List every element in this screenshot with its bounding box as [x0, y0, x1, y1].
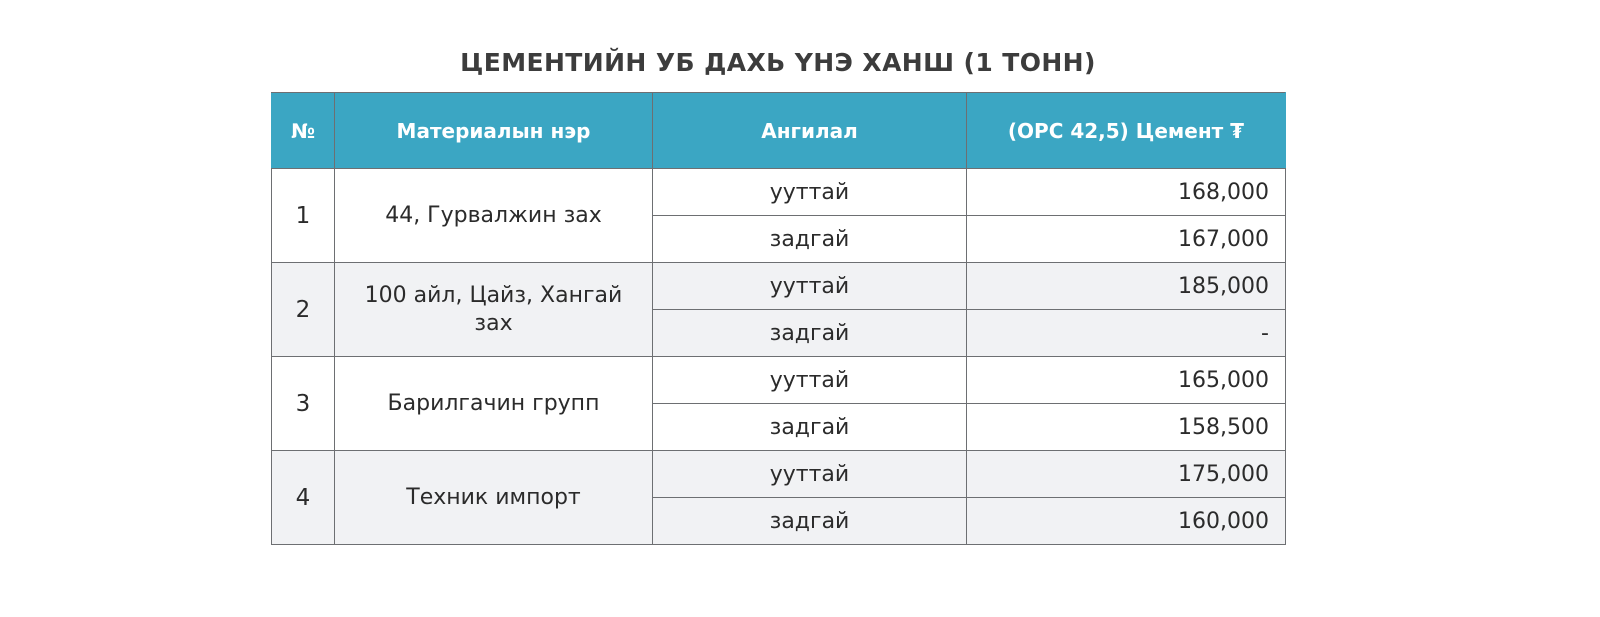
column-header-material-name: Материалын нэр — [335, 93, 653, 169]
cell-category: ууттай — [653, 263, 967, 310]
cell-price: - — [967, 310, 1286, 357]
cell-category: задгай — [653, 404, 967, 451]
cement-price-table: № Материалын нэр Ангилал (ОРС 42,5) Цеме… — [271, 92, 1286, 545]
cell-price: 168,000 — [967, 169, 1286, 216]
cell-row-number: 1 — [272, 169, 335, 263]
cell-row-number: 4 — [272, 451, 335, 545]
price-table-container: № Материалын нэр Ангилал (ОРС 42,5) Цеме… — [271, 92, 1285, 545]
column-header-number: № — [272, 93, 335, 169]
cell-category: задгай — [653, 216, 967, 263]
table-header-row: № Материалын нэр Ангилал (ОРС 42,5) Цеме… — [272, 93, 1286, 169]
table-row: 144, Гурвалжин захууттай168,000 — [272, 169, 1286, 216]
cell-price: 167,000 — [967, 216, 1286, 263]
cell-row-number: 3 — [272, 357, 335, 451]
cell-material-name: 100 айл, Цайз, Хангай зах — [335, 263, 653, 357]
cell-price: 165,000 — [967, 357, 1286, 404]
table-row: 2100 айл, Цайз, Хангай захууттай185,000 — [272, 263, 1286, 310]
cell-price: 160,000 — [967, 498, 1286, 545]
table-row: 3Барилгачин группууттай165,000 — [272, 357, 1286, 404]
page-title: ЦЕМЕНТИЙН УБ ДАХЬ ҮНЭ ХАНШ (1 ТОНН) — [0, 48, 1556, 77]
cell-category: ууттай — [653, 357, 967, 404]
table-body: 144, Гурвалжин захууттай168,000задгай167… — [272, 169, 1286, 545]
cell-price: 175,000 — [967, 451, 1286, 498]
cell-row-number: 2 — [272, 263, 335, 357]
cell-category: ууттай — [653, 451, 967, 498]
cell-category: задгай — [653, 310, 967, 357]
cell-category: ууттай — [653, 169, 967, 216]
column-header-price: (ОРС 42,5) Цемент ₮ — [967, 93, 1286, 169]
cell-material-name: 44, Гурвалжин зах — [335, 169, 653, 263]
table-header: № Материалын нэр Ангилал (ОРС 42,5) Цеме… — [272, 93, 1286, 169]
cell-material-name: Техник импорт — [335, 451, 653, 545]
table-row: 4Техник импортууттай175,000 — [272, 451, 1286, 498]
page-root: ЦЕМЕНТИЙН УБ ДАХЬ ҮНЭ ХАНШ (1 ТОНН) № Ма… — [0, 0, 1600, 617]
cell-material-name: Барилгачин групп — [335, 357, 653, 451]
column-header-category: Ангилал — [653, 93, 967, 169]
cell-price: 158,500 — [967, 404, 1286, 451]
cell-price: 185,000 — [967, 263, 1286, 310]
cell-category: задгай — [653, 498, 967, 545]
